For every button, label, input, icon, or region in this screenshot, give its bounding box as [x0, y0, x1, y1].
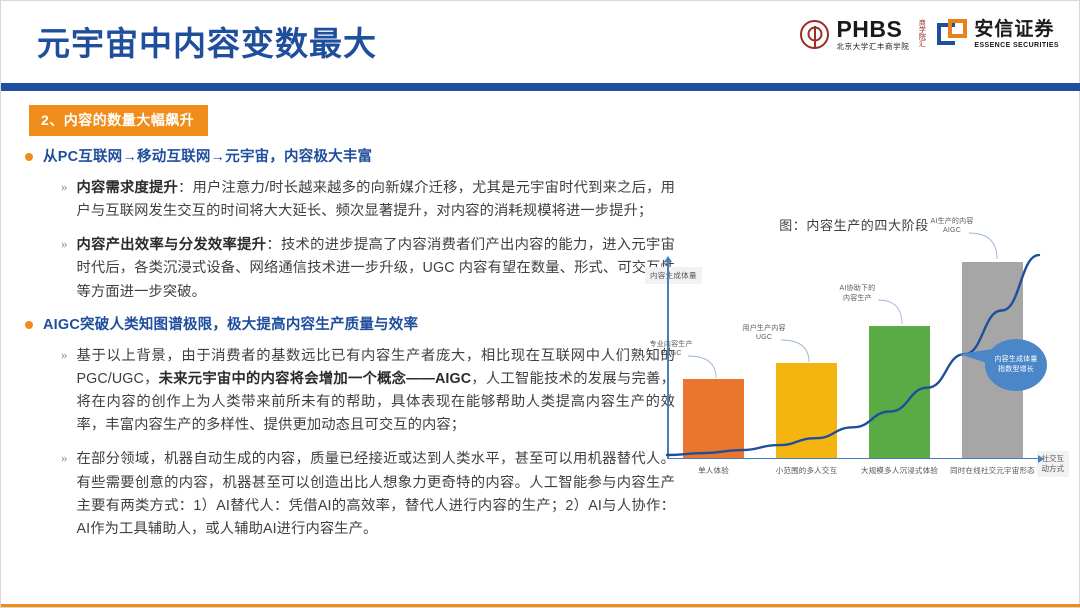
chart-category-label: 小范围的多人交互 [760, 465, 853, 476]
slide-header: 元宇宙中内容变数最大 PHBS 北京大学汇丰商学院 商学院汇 安信证券 ESSE… [1, 1, 1080, 81]
chart-title: 图：内容生产的四大阶段 [637, 215, 1071, 234]
annotation-leader-line-icon [878, 300, 910, 332]
chart-category-label: 大规模多人沉浸式体验 [853, 465, 946, 476]
chart-x-axis [667, 458, 1039, 460]
bullet-level1: 从PC互联网→移动互联网→元宇宙，内容极大丰富 [25, 147, 675, 168]
bullet-level1: AIGC突破人类知图谱极限，极大提高内容生产质量与效率 [25, 315, 675, 336]
chart-bar-annotation: AI协助下的内容生产 [840, 284, 876, 303]
essence-cn-name: 安信证券 [974, 20, 1059, 39]
chevron-double-right-icon: » [61, 179, 68, 195]
chart-bar [683, 379, 744, 457]
sub-bullet-text: 内容需求度提升：用户注意力/时长越来越多的向新媒介迁移，尤其是元宇宙时代到来之后… [77, 177, 676, 223]
phbs-logo: PHBS 北京大学汇丰商学院 商学院汇 [800, 18, 925, 51]
sub-bullet: » 内容需求度提升：用户注意力/时长越来越多的向新媒介迁移，尤其是元宇宙时代到来… [61, 177, 675, 223]
bullet-dot-icon [25, 321, 33, 329]
sub-bullet-text: 在部分领域，机器自动生成的内容，质量已经接近或达到人类水平，甚至可以用机器替代人… [77, 448, 676, 541]
sub-bullet-lead: 内容产出效率与分发效率提升 [77, 237, 267, 253]
essence-mark-icon [937, 19, 967, 49]
chevron-double-right-icon: » [61, 450, 68, 466]
chart-category-labels: 单人体验小范围的多人交互大规模多人沉浸式体验同时在线社交元宇宙形态 [667, 465, 1039, 476]
section-badge: 2、内容的数量大幅飙升 [29, 105, 208, 136]
sub-bullet: » 基于以上背景，由于消费者的基数远比已有内容生产者庞大，相比现在互联网中人们熟… [61, 345, 675, 438]
slide: 元宇宙中内容变数最大 PHBS 北京大学汇丰商学院 商学院汇 安信证券 ESSE… [0, 0, 1080, 608]
chart-category-label: 单人体验 [667, 465, 760, 476]
header-divider [1, 83, 1080, 91]
chart-bar-annotation: 用户生产内容UGC [743, 324, 786, 343]
phbs-seal-caption: 商学院汇 [917, 19, 925, 49]
footer-rule [1, 604, 1080, 607]
page-title: 元宇宙中内容变数最大 [37, 17, 377, 65]
sub-bullet: » 在部分领域，机器自动生成的内容，质量已经接近或达到人类水平，甚至可以用机器替… [61, 448, 675, 541]
annotation-leader-line-icon [781, 340, 817, 370]
chart-bar-annotation: 专业内容生产PUGC [650, 340, 693, 359]
bullet-dot-icon [25, 153, 33, 161]
sub-bullet-text: 基于以上背景，由于消费者的基数远比已有内容生产者庞大，相比现在互联网中人们熟知的… [77, 345, 676, 438]
essence-securities-logo: 安信证券 ESSENCE SECURITIES [937, 19, 1059, 49]
sub-bullet-lead: 内容需求度提升 [77, 180, 179, 196]
chevron-double-right-icon: » [61, 347, 68, 363]
chart-bar [776, 363, 837, 457]
sub-bullet-bold: 未来元宇宙中的内容将会增加一个概念——AIGC [159, 371, 471, 387]
phbs-logo-text: PHBS 北京大学汇丰商学院 [836, 18, 909, 51]
sub-bullet-text: 内容产出效率与分发效率提升：技术的进步提高了内容消费者们产出内容的能力，进入元宇… [77, 234, 676, 303]
chart-area: 内容生成体量 社交互动方式 单人体验小范围的多人交互大规模多人沉浸式体验同时在线… [637, 253, 1071, 505]
chart-category-label: 同时在线社交元宇宙形态 [946, 465, 1039, 476]
phbs-cn-name: 北京大学汇丰商学院 [836, 43, 909, 51]
sub-bullet: » 内容产出效率与分发效率提升：技术的进步提高了内容消费者们产出内容的能力，进入… [61, 234, 675, 303]
phbs-abbr: PHBS [836, 18, 909, 41]
peking-university-seal-icon [800, 20, 829, 49]
chart-bar [869, 326, 930, 457]
bullet-level1-label: 从PC互联网→移动互联网→元宇宙，内容极大丰富 [43, 147, 372, 168]
chart-bar-annotation: AI生产的内容AIGC [931, 217, 974, 236]
chevron-double-right-icon: » [61, 236, 68, 252]
annotation-leader-line-icon [688, 356, 724, 386]
bullet-level1-label: AIGC突破人类知图谱极限，极大提高内容生产质量与效率 [43, 315, 418, 336]
essence-logo-text: 安信证券 ESSENCE SECURITIES [974, 20, 1059, 49]
logo-group: PHBS 北京大学汇丰商学院 商学院汇 安信证券 ESSENCE SECURIT… [800, 18, 1059, 51]
essence-en-name: ESSENCE SECURITIES [974, 42, 1059, 49]
chart-panel: 图：内容生产的四大阶段 内容生成体量 社交互动方式 单人体验小范围的多人交互大规… [637, 215, 1071, 505]
chart-callout: 内容生成体量指数型增长 [985, 339, 1047, 391]
content-body: 从PC互联网→移动互联网→元宇宙，内容极大丰富 » 内容需求度提升：用户注意力/… [25, 147, 675, 552]
annotation-leader-line-icon [969, 233, 1005, 267]
